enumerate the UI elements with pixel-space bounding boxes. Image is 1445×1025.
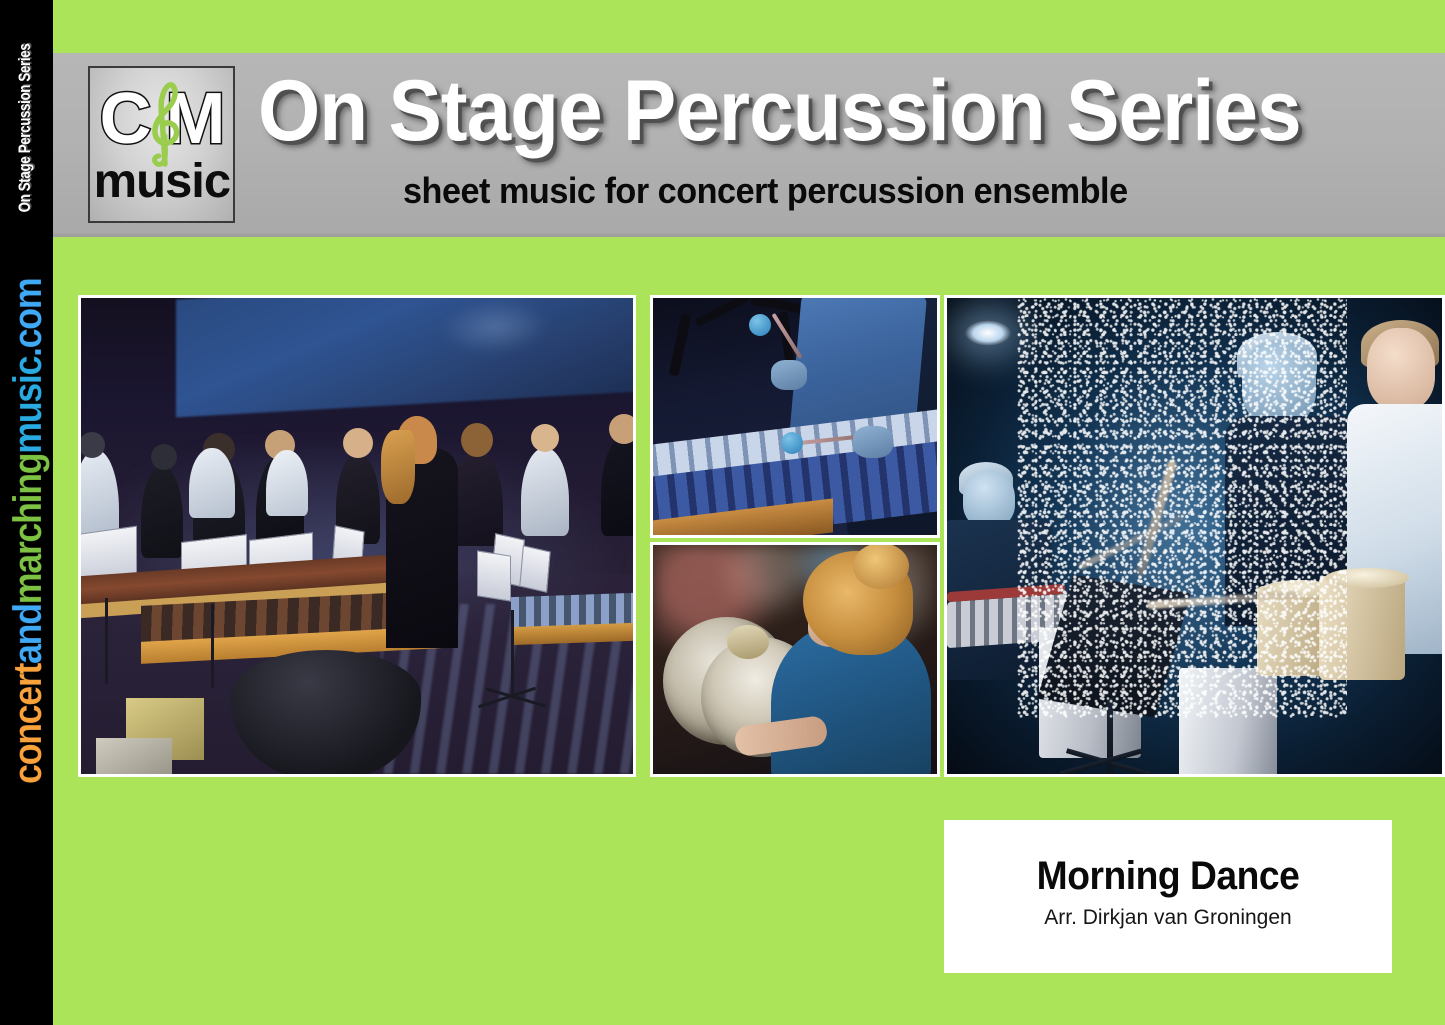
spine-website-url: concertandmarchingmusic.com xyxy=(8,352,48,784)
piece-title-card: Morning Dance Arr. Dirkjan van Groningen xyxy=(944,820,1392,973)
url-part-marching: marching xyxy=(6,454,50,605)
series-title: On Stage Percussion Series xyxy=(258,59,1355,169)
spine-series-label: On Stage Percussion Series xyxy=(15,23,35,234)
url-part-concert: concert xyxy=(6,664,50,784)
url-part-music: music xyxy=(6,357,50,454)
photo-collage xyxy=(78,295,1445,777)
logo-letters: C M xyxy=(92,84,232,156)
url-part-tld: .com xyxy=(6,279,50,357)
photo-percussion-ensemble-on-stage xyxy=(78,295,636,777)
series-subtitle: sheet music for concert percussion ensem… xyxy=(403,169,1391,213)
green-background-top xyxy=(53,0,1445,53)
cm-music-logo: C M music xyxy=(88,66,235,223)
photo-vibraphone-player-hands xyxy=(650,295,940,538)
photo-cymbal-player xyxy=(650,542,940,777)
left-spine: On Stage Percussion Series concertandmar… xyxy=(0,0,53,1025)
url-part-and: and xyxy=(6,604,50,664)
header-banner: C M music On Stage Percussion Series she… xyxy=(53,53,1445,237)
piece-title: Morning Dance xyxy=(960,854,1377,898)
cover-artwork: On Stage Percussion Series concertandmar… xyxy=(0,0,1445,1025)
piece-arranger: Arr. Dirkjan van Groningen xyxy=(944,905,1392,931)
treble-clef-icon xyxy=(142,76,188,168)
photo-drummers-water-splash xyxy=(944,295,1445,777)
